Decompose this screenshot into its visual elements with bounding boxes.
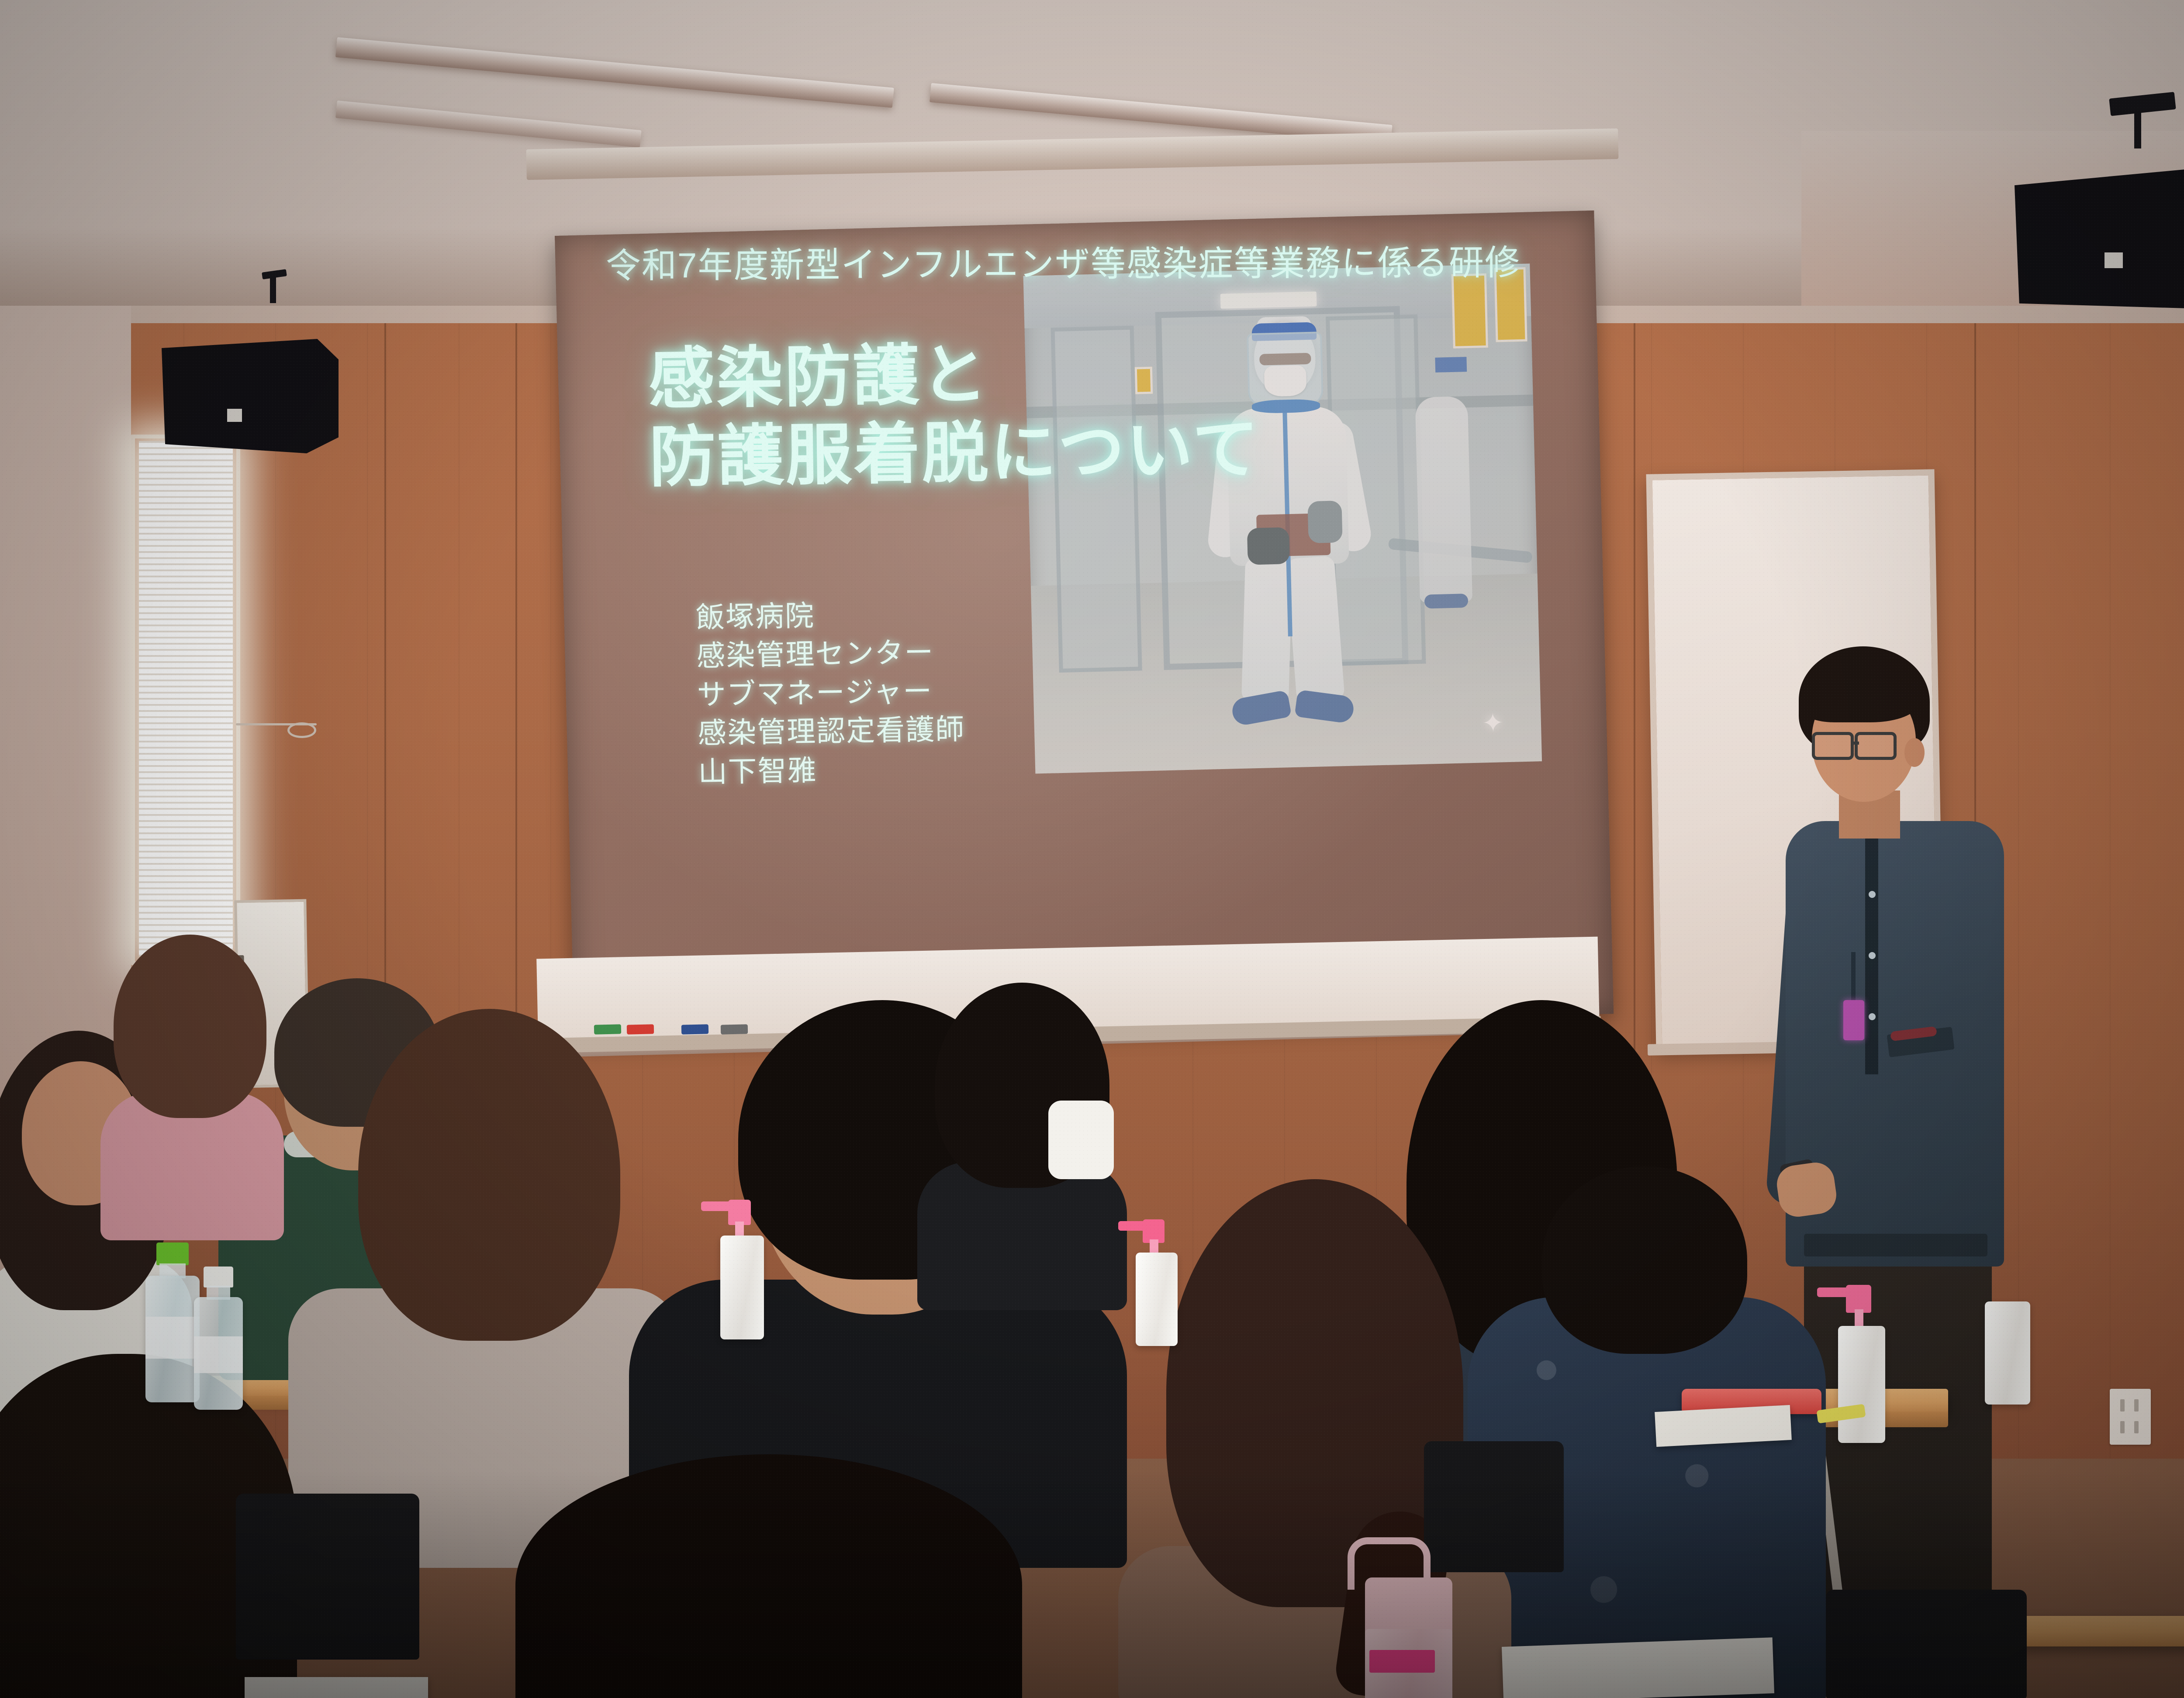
face-mask-icon — [1048, 1101, 1114, 1179]
byline-line-4: 感染管理認定看護師 — [697, 710, 965, 752]
byline-line-3: サブマネージャー — [697, 671, 964, 714]
slide-title-line-1: 感染防護と — [648, 329, 1479, 419]
speaker-logo-icon — [2105, 252, 2123, 268]
eyeglasses-icon — [1855, 732, 1897, 760]
water-bottle[interactable] — [192, 1267, 245, 1406]
slide-byline: 飯塚病院 感染管理センター サブマネージャー 感染管理認定看護師 山下智雅 — [695, 594, 966, 791]
eyeglasses-icon — [1812, 732, 1854, 760]
chair[interactable] — [236, 1494, 419, 1660]
byline-line-1: 飯塚病院 — [695, 594, 963, 637]
hand-sanitizer-bottle[interactable] — [1118, 1218, 1184, 1349]
chair[interactable] — [1826, 1590, 2027, 1698]
glove-icon — [1247, 527, 1290, 565]
speaker-logo-icon — [227, 409, 242, 422]
hand-sanitizer-bottle[interactable] — [701, 1199, 767, 1343]
projection-screen: ✦ 令和7年度新型インフルエンザ等感染症等業務に係る研修 感染防護と 防護服着脱… — [555, 211, 1614, 1039]
slide-header-text: 令和7年度新型インフルエンザ等感染症等業務に係る研修 — [606, 244, 1532, 285]
handout-paper[interactable] — [1502, 1637, 1774, 1698]
wall-outlet[interactable] — [2110, 1389, 2151, 1445]
lecture-room-photo: ✦ 令和7年度新型インフルエンザ等感染症等業務に係る研修 感染防護と 防護服着脱… — [0, 0, 2184, 1698]
shoe-cover-icon — [1294, 690, 1355, 724]
hand-sanitizer-bottle[interactable] — [1974, 1293, 2040, 1406]
window — [139, 441, 233, 956]
audience-member — [515, 1454, 1022, 1698]
slide-title: 感染防護と 防護服着脱について — [648, 329, 1480, 497]
handout-paper[interactable] — [1655, 1405, 1792, 1447]
id-badge — [1843, 1000, 1864, 1040]
shoe-cover-icon — [1230, 690, 1292, 727]
audience-member — [100, 908, 284, 1214]
sparkle-icon: ✦ — [1479, 710, 1506, 736]
ceiling-speaker-right — [2015, 165, 2184, 309]
audience-member — [917, 956, 1127, 1297]
slide-title-line-2: 防護服着脱について — [649, 407, 1479, 497]
byline-line-2: 感染管理センター — [696, 633, 964, 676]
ceiling-speaker-left — [162, 339, 339, 453]
water-tumbler[interactable] — [1334, 1537, 1457, 1698]
glove-icon — [1307, 500, 1342, 543]
wall-hook — [236, 712, 317, 738]
byline-line-5: 山下智雅 — [698, 749, 966, 791]
speaker-mount-arm — [270, 277, 276, 303]
photo-ceiling-light-icon — [1220, 291, 1317, 308]
speaker-mount-arm — [2134, 109, 2141, 148]
handout-paper[interactable] — [245, 1677, 428, 1698]
window-blinds[interactable] — [139, 441, 233, 956]
